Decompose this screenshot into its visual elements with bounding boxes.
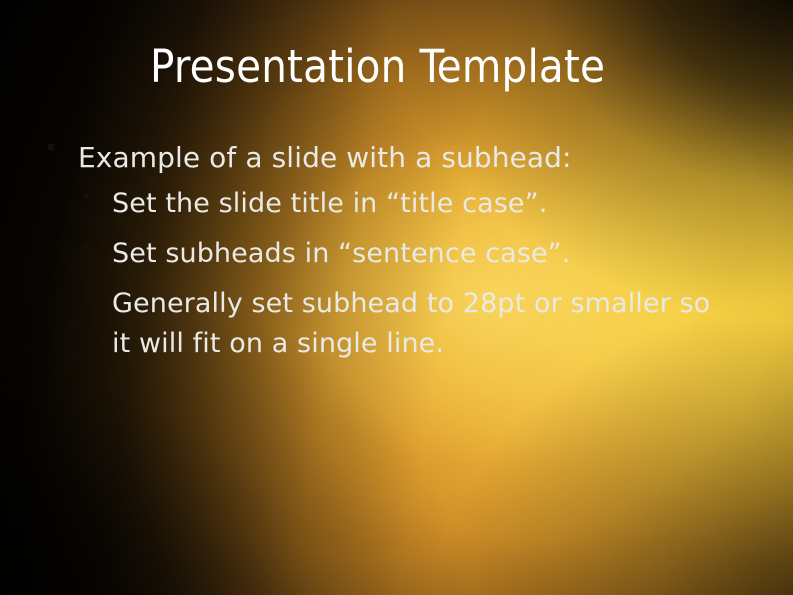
bullet-item-level2: Set the slide title in “title case”. (0, 184, 793, 224)
bullet-item-level2: Set subheads in “sentence case”. (0, 234, 793, 274)
slide-content: Presentation Template Example of a slide… (0, 0, 793, 595)
bullet-text: Example of a slide with a subhead: (78, 137, 793, 178)
slide-body-bullet-list: Example of a slide with a subhead: Set t… (0, 137, 793, 374)
square-bullet-icon (48, 144, 54, 150)
slide-title: Presentation Template (150, 42, 750, 92)
bullet-text: Generally set subhead to 28pt or smaller… (112, 284, 712, 364)
bullet-item-level2: Generally set subhead to 28pt or smaller… (0, 284, 793, 364)
bullet-item-level1: Example of a slide with a subhead: (0, 137, 793, 178)
bullet-text: Set subheads in “sentence case”. (112, 234, 712, 274)
presentation-slide: Presentation Template Example of a slide… (0, 0, 793, 595)
square-bullet-icon (84, 293, 89, 298)
square-bullet-icon (84, 193, 89, 198)
bullet-text: Set the slide title in “title case”. (112, 184, 712, 224)
square-bullet-icon (84, 243, 89, 248)
